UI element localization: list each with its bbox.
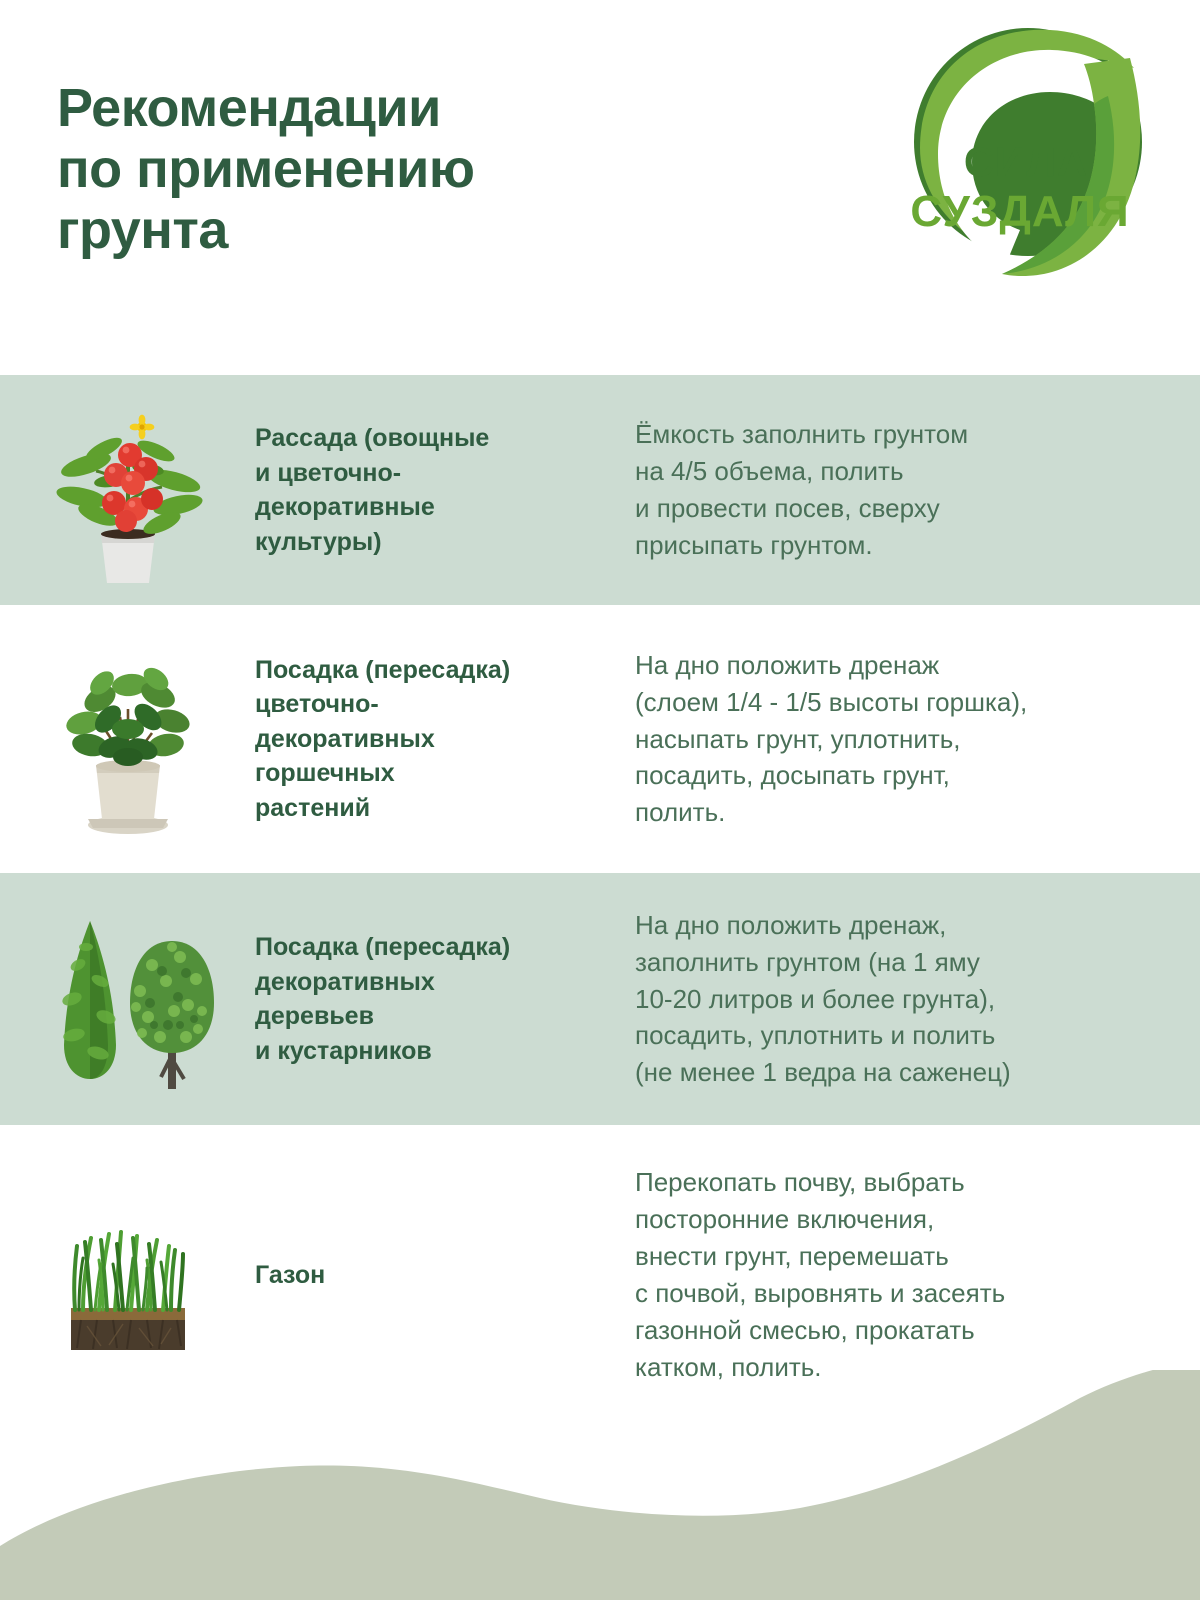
recommendation-rows: Рассада (овощные и цветочно- декоративны… [0,375,1200,1425]
header: Рекомендации по применению грунта СИЛА С… [0,0,1200,375]
conifer-and-shrub-trees-image [28,907,228,1092]
logo-line-1: СИЛА [964,138,1088,185]
row-title: Посадка (пересадка) декоративных деревье… [255,930,635,1068]
deciduous-tree-shape [130,941,214,1089]
row-title: Рассада (овощные и цветочно- декоративны… [255,421,635,559]
table-row: Посадка (пересадка) цветочно- декоративн… [0,605,1200,873]
lawn-turf-sod-image [35,1188,220,1363]
row-title: Газон [255,1258,635,1293]
row-title: Посадка (пересадка) цветочно- декоративн… [255,653,635,826]
tomato-seedling-in-pot-image [38,393,218,588]
row-description: На дно положить дренаж (слоем 1/4 - 1/5 … [635,647,1200,832]
conifer-shape [60,921,117,1079]
row-media-cell [0,873,255,1125]
row-description: Ёмкость заполнить грунтом на 4/5 объема,… [635,416,1200,564]
logo-line-2: СУЗДАЛЯ [910,187,1129,236]
infographic-page: Рекомендации по применению грунта СИЛА С… [0,0,1200,1600]
page-title: Рекомендации по применению грунта [57,78,697,261]
brand-logo: СИЛА СУЗДАЛЯ [894,18,1162,286]
bottom-wave-decoration [0,1370,1200,1600]
row-media-cell [0,375,255,605]
row-description: На дно положить дренаж, заполнить грунто… [635,907,1200,1092]
table-row: Посадка (пересадка) декоративных деревье… [0,873,1200,1125]
table-row: Рассада (овощные и цветочно- декоративны… [0,375,1200,605]
potted-foliage-plant-image [38,639,218,839]
row-media-cell [0,605,255,873]
wave-shape [0,1370,1200,1600]
row-description: Перекопать почву, выбрать посторонние вк… [635,1164,1200,1385]
